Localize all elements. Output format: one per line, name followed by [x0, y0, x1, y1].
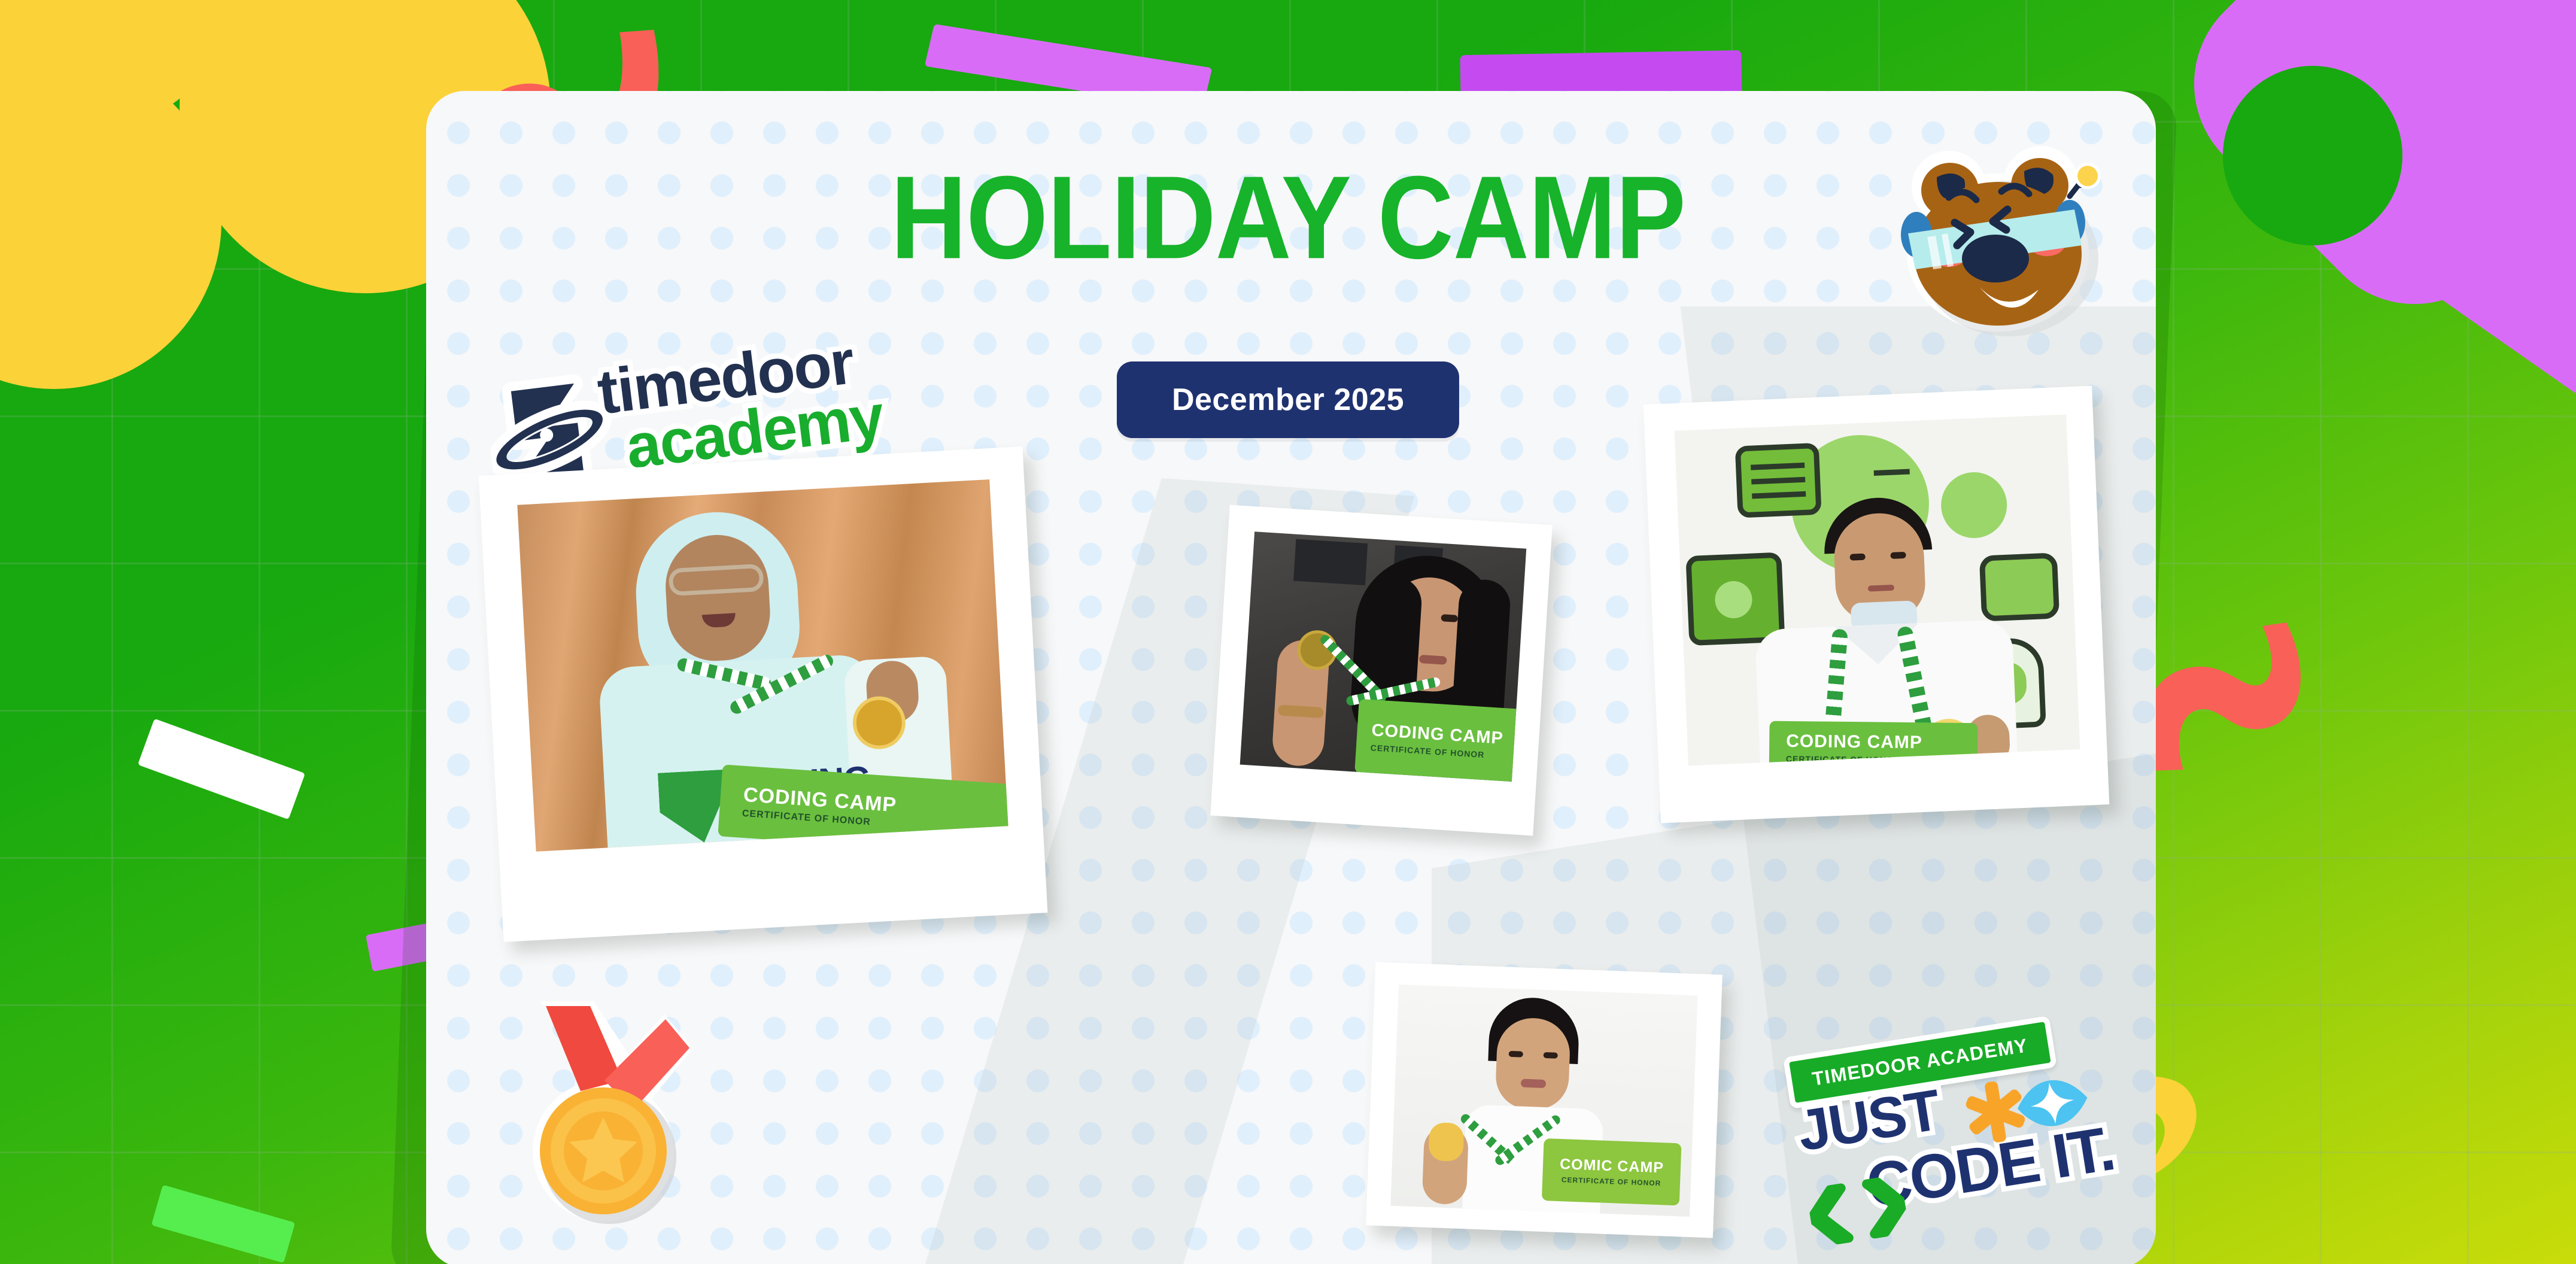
photo-image-2: CODING CAMP CERTIFICATE OF HONOR	[1240, 531, 1527, 782]
certificate-title-4: COMIC CAMP	[1560, 1157, 1664, 1175]
photo-image-1: C◉DING C■ CODING CAMP CERTIFICATE OF HON…	[517, 479, 1008, 852]
certificate-sub-4: CERTIFICATE OF HONOR	[1562, 1175, 1661, 1187]
date-badge: December 2025	[1117, 361, 1459, 438]
photo-card-2: CODING CAMP CERTIFICATE OF HONOR	[1210, 505, 1553, 836]
red-squiggle-bottom-right	[2131, 616, 2310, 796]
certificate-sub-3: CERTIFICATE OF HONOR	[1786, 754, 1900, 765]
eye-sparkle-icon	[2009, 1065, 2096, 1142]
page-title: HOLIDAY CAMP	[0, 159, 2576, 276]
certificate-3: CODING CAMP CERTIFICATE OF HONOR	[1769, 721, 1978, 766]
photo-image-3: CODING CAMP CERTIFICATE OF HONOR	[1675, 414, 2080, 765]
bear-mascot-icon	[1884, 139, 2124, 336]
just-code-it-badge: TIMEDOOR ACADEMY JUST CODE IT.	[1766, 1005, 2139, 1239]
photo-image-4: COMIC CAMP CERTIFICATE OF HONOR	[1390, 985, 1697, 1217]
certificate-title-3: CODING CAMP	[1786, 733, 1922, 752]
certificate-4: COMIC CAMP CERTIFICATE OF HONOR	[1542, 1138, 1682, 1205]
photo-card-1: C◉DING C■ CODING CAMP CERTIFICATE OF HON…	[479, 446, 1048, 942]
photo-card-3: CODING CAMP CERTIFICATE OF HONOR	[1644, 386, 2110, 824]
gold-medal-icon	[515, 990, 700, 1230]
banner-canvas: HOLIDAY CAMP December 2025 timedoor acad…	[0, 0, 2576, 1264]
certificate-2: CODING CAMP CERTIFICATE OF HONOR	[1354, 699, 1526, 782]
certificate-1: CODING CAMP CERTIFICATE OF HONOR	[718, 764, 1008, 852]
photo-card-4: COMIC CAMP CERTIFICATE OF HONOR	[1366, 962, 1723, 1238]
